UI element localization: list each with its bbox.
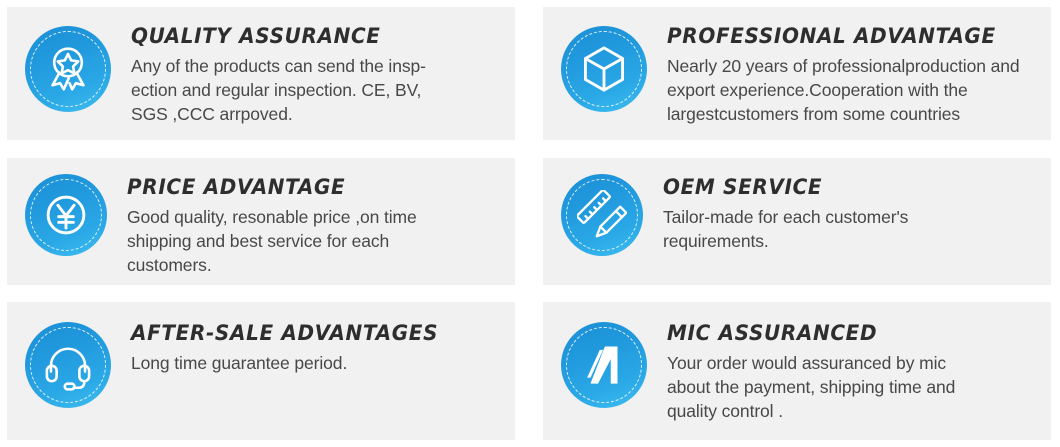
headset-support-icon	[25, 322, 111, 408]
panel-body: Any of the products can send the insp- e…	[131, 55, 515, 127]
panel-body: Your order would assuranced by mic about…	[667, 352, 1051, 424]
panel-heading: PRICE ADVANTAGE	[127, 176, 496, 199]
ruler-pencil-icon	[561, 174, 643, 256]
mic-m-logo-icon	[561, 322, 647, 408]
panel-heading: AFTER-SALE ADVANTAGES	[131, 322, 496, 345]
panel-body: Long time guarantee period.	[131, 352, 515, 376]
advantages-grid: QUALITY ASSURANCE Any of the products ca…	[0, 0, 1060, 447]
panel-text: OEM SERVICE Tailor-made for each custome…	[643, 158, 1051, 254]
panel-heading: PROFESSIONAL ADVANTAGE	[667, 25, 1032, 48]
panel-heading: OEM SERVICE	[663, 176, 1032, 199]
panel-body: Tailor-made for each customer's requirem…	[663, 206, 1051, 254]
panel-after-sale-advantages: AFTER-SALE ADVANTAGES Long time guarante…	[7, 302, 515, 440]
medal-star-ribbon-icon	[25, 26, 111, 112]
panel-text: PRICE ADVANTAGE Good quality, resonable …	[107, 158, 515, 278]
panel-text: QUALITY ASSURANCE Any of the products ca…	[111, 7, 515, 127]
panel-body: Good quality, resonable price ,on time s…	[127, 206, 515, 278]
panel-text: AFTER-SALE ADVANTAGES Long time guarante…	[111, 302, 515, 376]
panel-text: PROFESSIONAL ADVANTAGE Nearly 20 years o…	[647, 7, 1051, 127]
panel-professional-advantage: PROFESSIONAL ADVANTAGE Nearly 20 years o…	[543, 7, 1051, 140]
panel-heading: QUALITY ASSURANCE	[131, 25, 496, 48]
panel-price-advantage: PRICE ADVANTAGE Good quality, resonable …	[7, 158, 515, 285]
panel-oem-service: OEM SERVICE Tailor-made for each custome…	[543, 158, 1051, 285]
yuan-coin-icon	[25, 174, 107, 256]
cube-box-icon	[561, 26, 647, 112]
panel-body: Nearly 20 years of professionalproductio…	[667, 55, 1051, 127]
panel-mic-assuranced: MIC ASSURANCED Your order would assuranc…	[543, 302, 1051, 440]
panel-heading: MIC ASSURANCED	[667, 322, 1032, 345]
panel-quality-assurance: QUALITY ASSURANCE Any of the products ca…	[7, 7, 515, 140]
panel-text: MIC ASSURANCED Your order would assuranc…	[647, 302, 1051, 424]
